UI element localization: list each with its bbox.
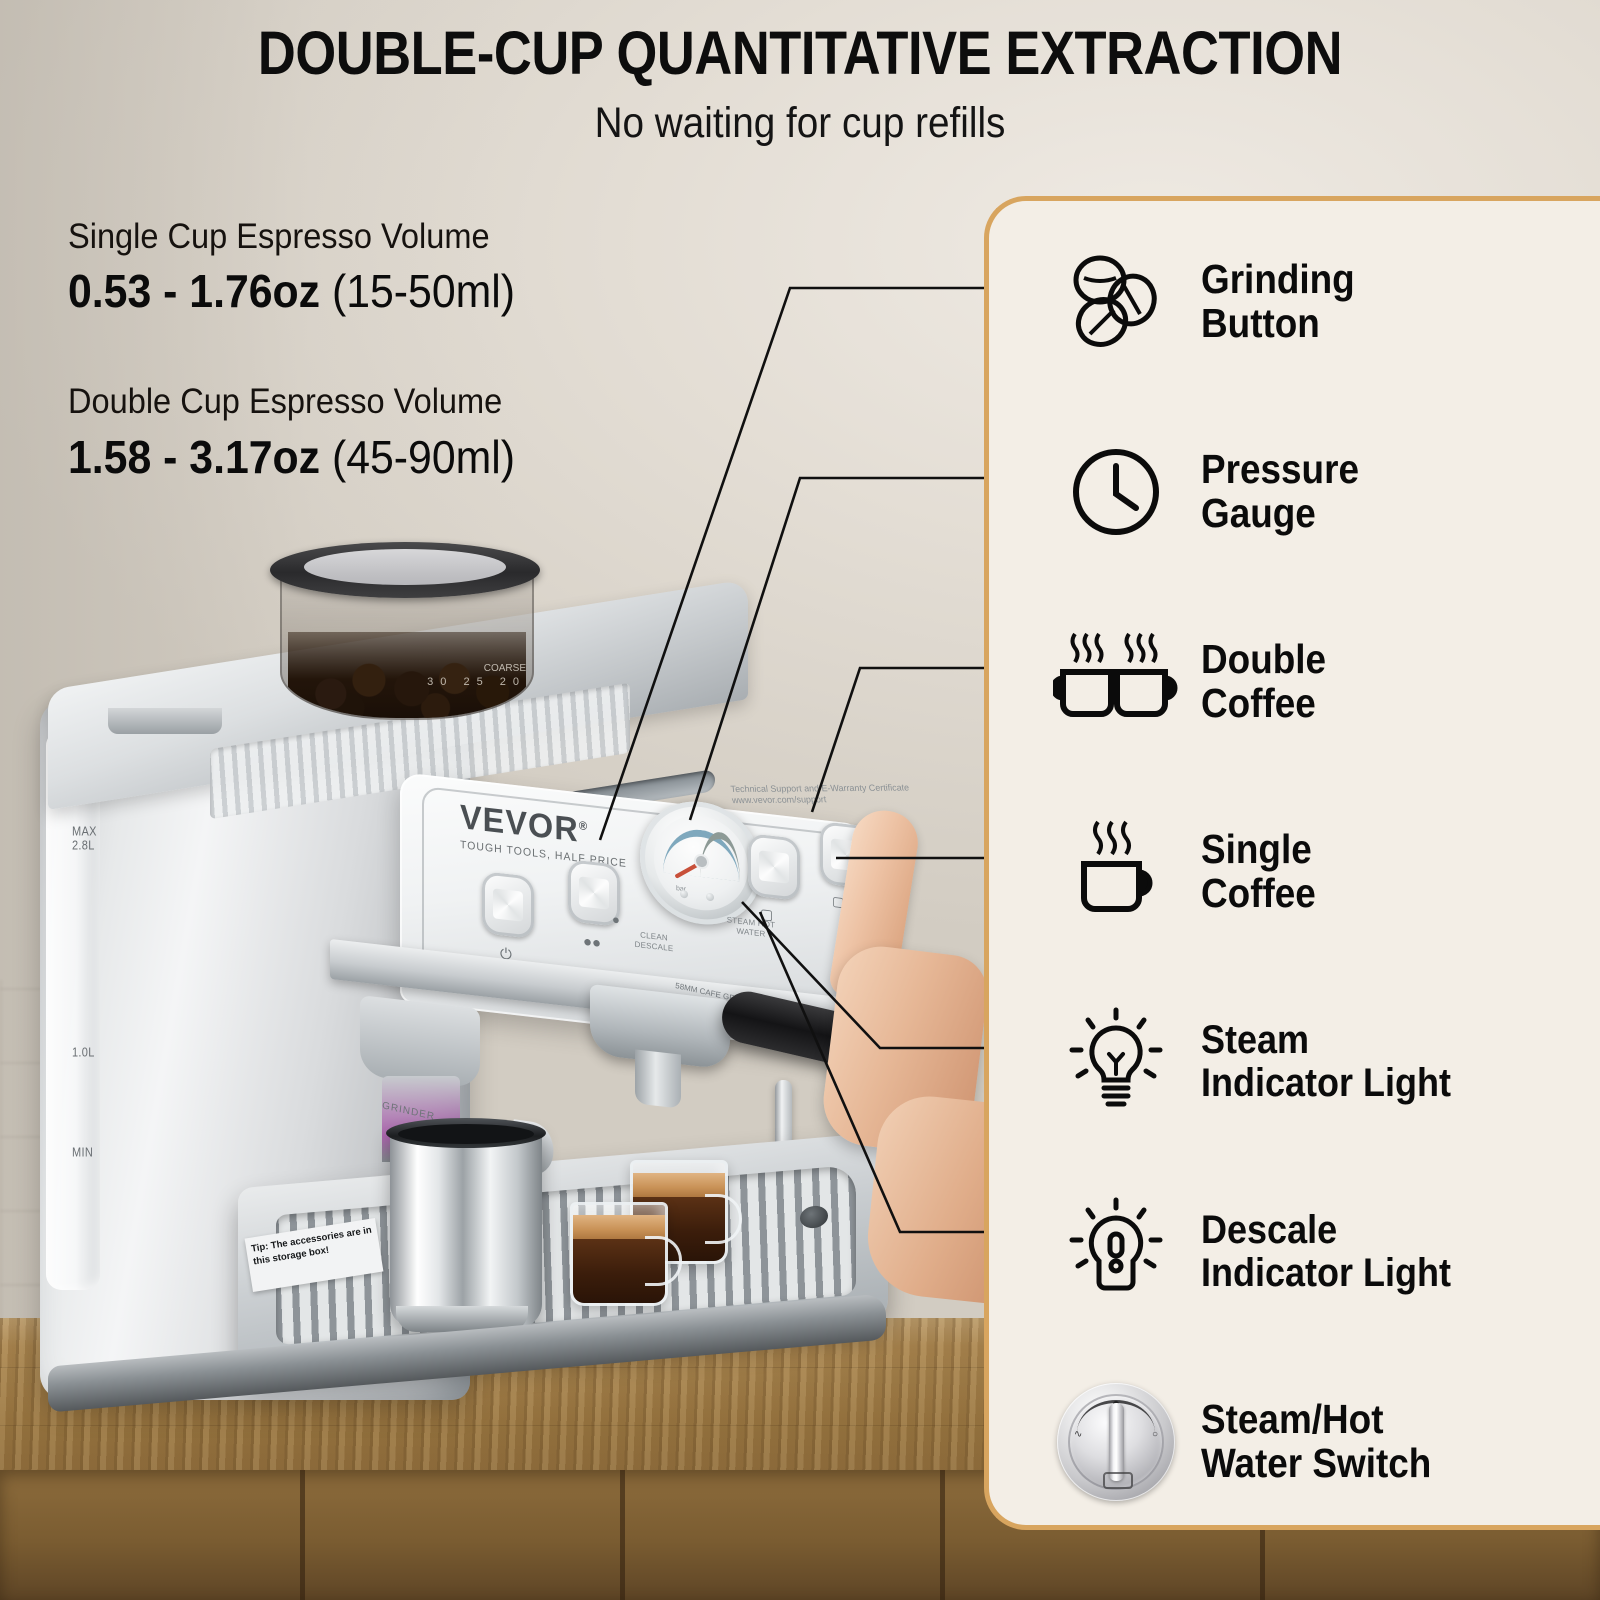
feature-descale-indicator-light[interactable]: Descale Indicator Light	[989, 1193, 1600, 1311]
registered-trademark-icon: ®	[579, 818, 589, 833]
gauge-screw-right	[706, 893, 714, 902]
espresso-machine: MAX2.8L 1.0L MIN COARSE 30 25 20 VEVOR®	[30, 540, 910, 1420]
double-coffee-cups-icon	[1041, 623, 1191, 741]
pressure-gauge-clock-icon	[1041, 433, 1191, 551]
lightbulb-alert-icon	[1041, 1193, 1191, 1311]
hopper-scale-numbers: 30 25 20	[416, 675, 526, 690]
feature-pressure-gauge[interactable]: Pressure Gauge	[989, 433, 1600, 551]
single-cup-button[interactable]	[748, 833, 800, 901]
cup-handle-front	[645, 1236, 682, 1286]
cup-handle-back	[705, 1194, 742, 1244]
feature-label-grinding-button: Grinding Button	[1201, 258, 1355, 346]
portafilter-spout	[635, 1049, 681, 1108]
page-title: DOUBLE-CUP QUANTITATIVE EXTRACTION	[112, 22, 1488, 84]
feature-grinding-button[interactable]: Grinding Button	[989, 243, 1600, 361]
knob-water-symbol: ○	[1152, 1429, 1158, 1440]
gauge-center-pin	[696, 855, 707, 867]
spec-list: Single Cup Espresso Volume 0.53 - 1.76oz…	[68, 216, 688, 547]
bean-hopper: COARSE 30 25 20	[270, 542, 540, 724]
gauge-screw-left	[680, 890, 688, 899]
power-button[interactable]	[482, 871, 534, 939]
pitcher-interior	[398, 1124, 534, 1144]
feature-steam-indicator-light[interactable]: Steam Indicator Light	[989, 1003, 1600, 1121]
water-tank-window	[46, 730, 100, 1290]
steam-knob-dial: ∿ ○	[1057, 1383, 1175, 1501]
knob-steam-symbol: ∿	[1074, 1429, 1082, 1440]
spec-ml-single: (15-50ml)	[332, 265, 515, 317]
steam-knob-photo: ∿ ○	[1041, 1383, 1191, 1501]
gauge-face: bar	[654, 811, 748, 916]
knob-bottom-marking	[1103, 1472, 1133, 1489]
page-subtitle: No waiting for cup refills	[80, 101, 1520, 146]
spec-label-single: Single Cup Espresso Volume	[68, 216, 645, 257]
feature-label-double-coffee: Double Coffee	[1201, 638, 1326, 726]
feature-steam-hot-water-switch[interactable]: ∿ ○ Steam/Hot Water Switch	[989, 1383, 1600, 1501]
milk-frothing-pitcher	[382, 1100, 552, 1330]
feature-single-coffee[interactable]: Single Coffee	[989, 813, 1600, 931]
feature-label-single-coffee: Single Coffee	[1201, 828, 1316, 916]
spec-label-double: Double Cup Espresso Volume	[68, 381, 645, 422]
coffee-beans-icon	[1041, 243, 1191, 361]
single-coffee-cup-icon	[1041, 813, 1191, 931]
spec-single-cup: Single Cup Espresso Volume 0.53 - 1.76oz…	[68, 216, 688, 319]
spec-value-double: 1.58 - 3.17oz (45-90ml)	[68, 429, 645, 485]
hopper-lid-inner	[304, 549, 506, 585]
descale-indicator-icon: ●	[612, 912, 620, 928]
spec-oz-double: 1.58 - 3.17oz	[68, 431, 320, 483]
feature-label-steam-indicator: Steam Indicator Light	[1201, 1019, 1451, 1105]
spec-double-cup: Double Cup Espresso Volume 1.58 - 3.17oz…	[68, 381, 688, 484]
hopper-neck	[108, 708, 222, 734]
feature-double-coffee[interactable]: Double Coffee	[989, 623, 1600, 741]
feature-label-descale-indicator: Descale Indicator Light	[1201, 1209, 1451, 1295]
feature-callout-panel: Grinding Button Pressure Gauge	[984, 196, 1600, 1530]
grind-size-scale: COARSE 30 25 20	[416, 662, 526, 690]
spec-oz-single: 0.53 - 1.76oz	[68, 265, 320, 317]
water-tank-mark-max: MAX2.8L	[72, 826, 97, 853]
spec-ml-double: (45-90ml)	[332, 431, 515, 483]
knob-slot	[1109, 1403, 1124, 1481]
hopper-lid[interactable]	[270, 542, 540, 598]
feature-label-steam-hot-water: Steam/Hot Water Switch	[1201, 1398, 1431, 1486]
feature-label-pressure-gauge: Pressure Gauge	[1201, 448, 1359, 536]
water-tank-mark-mid: 1.0L	[72, 1047, 95, 1060]
spec-value-single: 0.53 - 1.76oz (15-50ml)	[68, 263, 645, 319]
espresso-cup-front	[570, 1202, 680, 1306]
hopper-scale-coarse: COARSE	[416, 662, 526, 676]
grinder-chute	[360, 995, 480, 1089]
lightbulb-icon	[1041, 1003, 1191, 1121]
water-tank-mark-min: MIN	[72, 1147, 93, 1160]
pitcher-body	[390, 1128, 542, 1328]
bean-icon: ●●	[583, 933, 601, 952]
infographic-stage: DOUBLE-CUP QUANTITATIVE EXTRACTION No wa…	[0, 0, 1600, 1600]
